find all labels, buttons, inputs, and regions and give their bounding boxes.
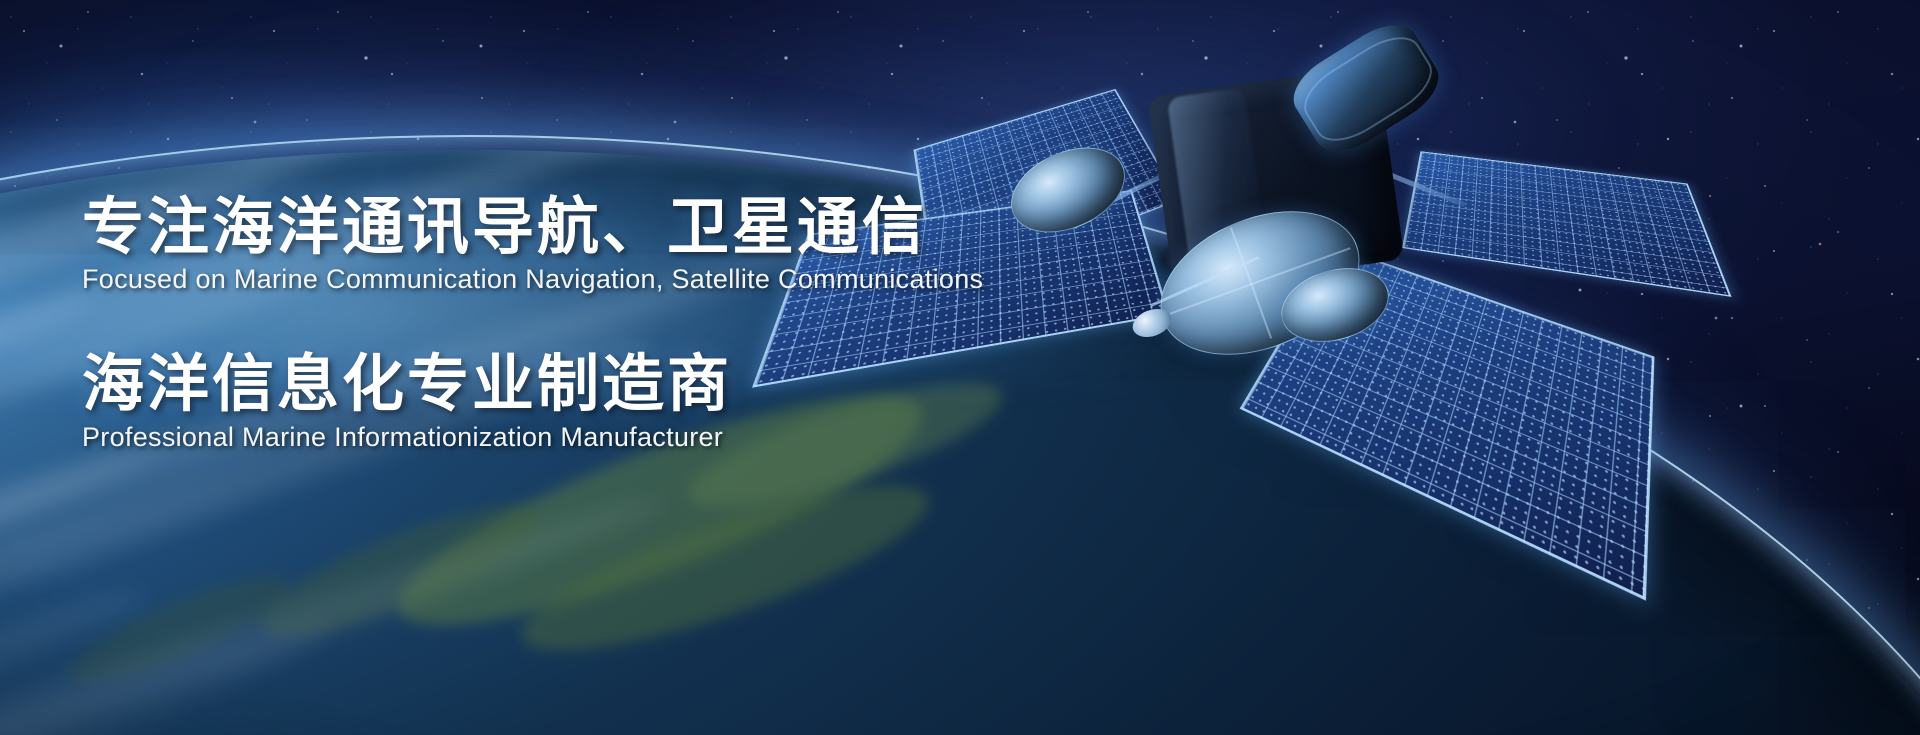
headline-block-secondary: 海洋信息化专业制造商 Professional Marine Informati… — [82, 353, 1282, 452]
headline-en-primary: Focused on Marine Communication Navigati… — [82, 264, 1282, 295]
headline-zh-secondary: 海洋信息化专业制造商 — [82, 353, 1282, 417]
headline-group: 专注海洋通讯导航、卫星通信 Focused on Marine Communic… — [82, 196, 1282, 511]
headline-en-secondary: Professional Marine Informationization M… — [82, 422, 1282, 453]
hero-banner: 专注海洋通讯导航、卫星通信 Focused on Marine Communic… — [0, 0, 1920, 735]
headline-zh-primary: 专注海洋通讯导航、卫星通信 — [82, 196, 1282, 260]
headline-block-primary: 专注海洋通讯导航、卫星通信 Focused on Marine Communic… — [82, 196, 1282, 295]
solar-panel-upper-right — [1402, 151, 1732, 297]
